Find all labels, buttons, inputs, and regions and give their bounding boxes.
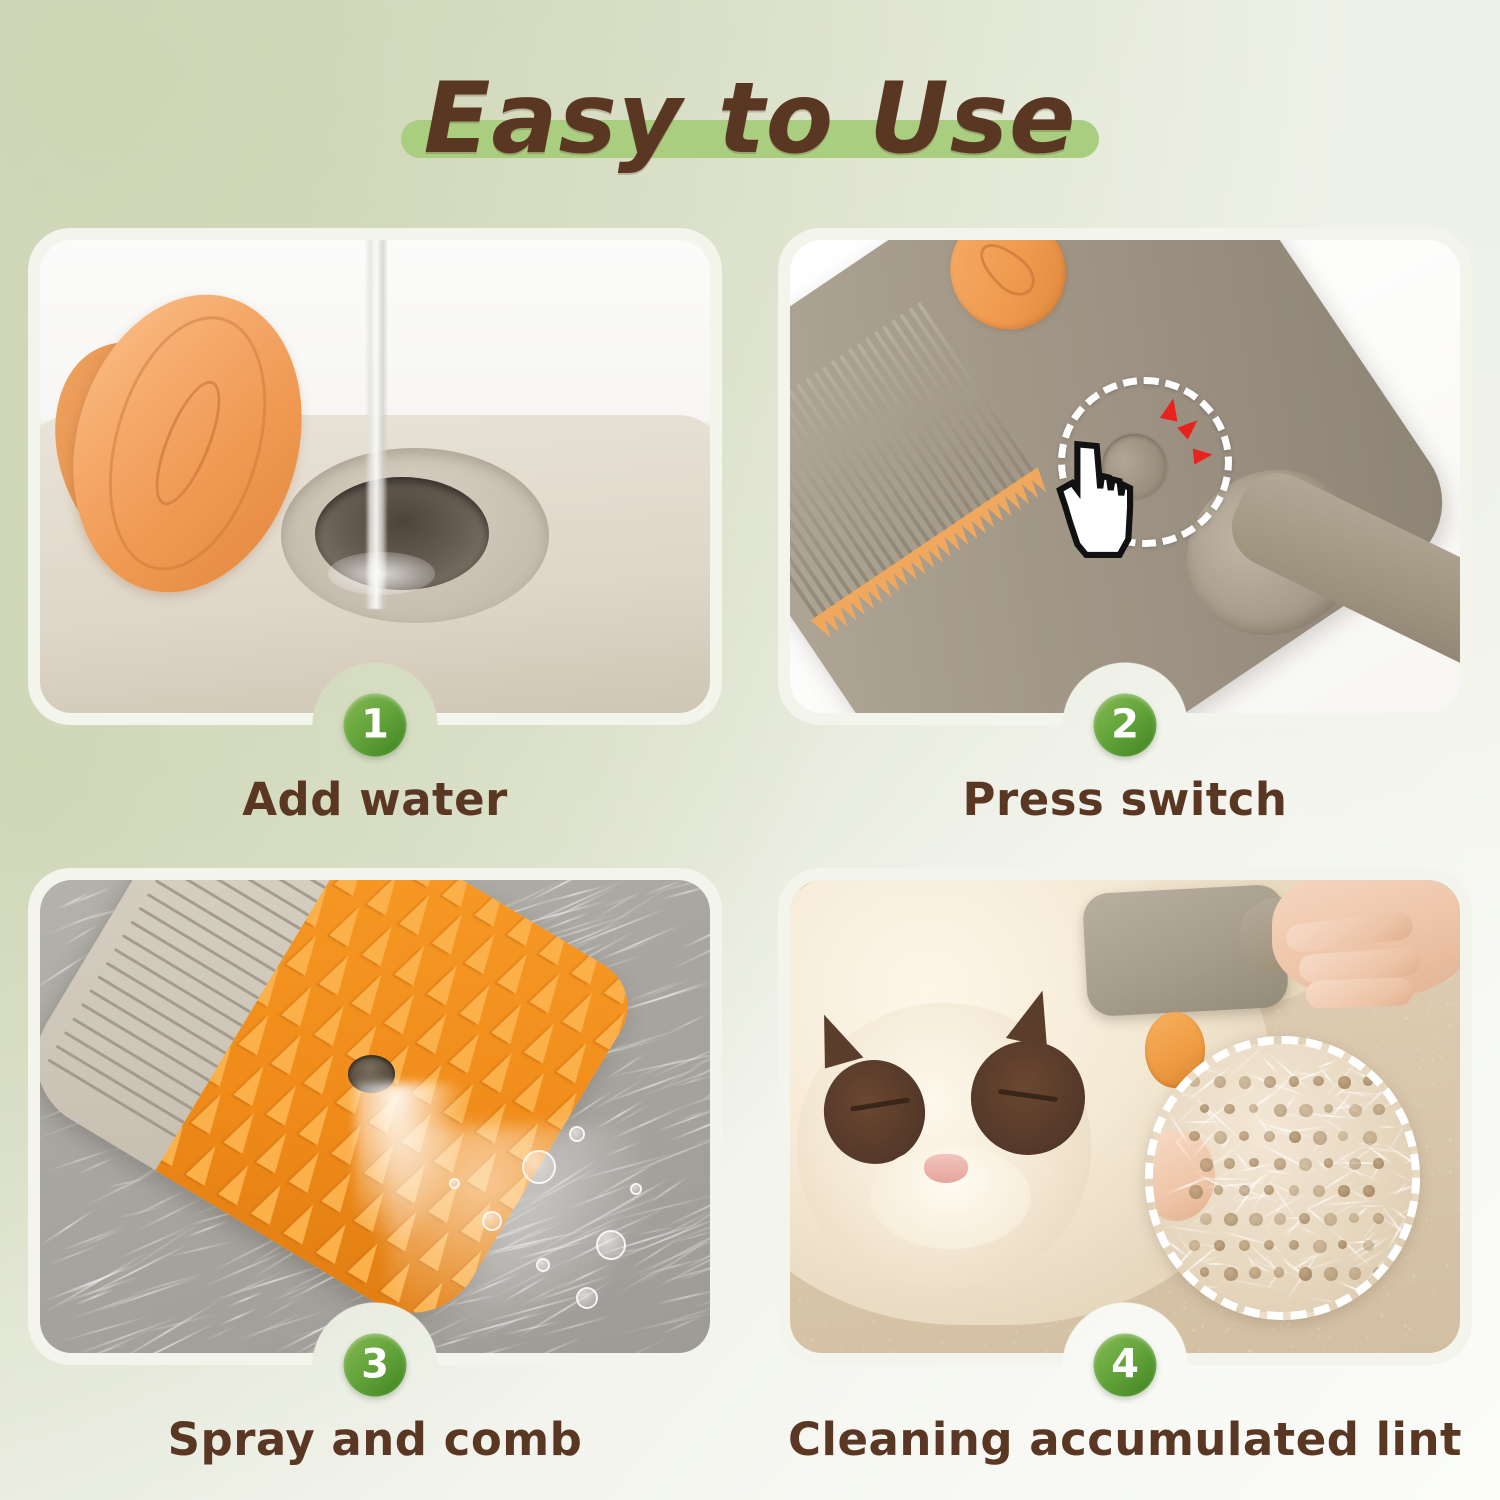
carpet-fleck [1013, 1341, 1016, 1344]
bristle-spike [514, 1066, 553, 1112]
carpet-fleck [1374, 1009, 1377, 1012]
bristle-hole [1289, 1185, 1300, 1196]
carpet-fleck [1151, 1334, 1154, 1337]
bristle-spike [524, 1018, 563, 1064]
carpet-fleck [806, 1297, 809, 1300]
carpet-fleck [1291, 1345, 1294, 1348]
carpet-fleck [984, 1344, 987, 1347]
soap-bubble [522, 1150, 556, 1184]
bristle-hole [1338, 1185, 1349, 1196]
bristle-hole [1239, 1076, 1251, 1088]
page-title: Easy to Use [409, 62, 1090, 178]
fur-strand [707, 1162, 710, 1183]
carpet-fleck [1416, 1316, 1419, 1319]
bristle-hole [1363, 1185, 1375, 1197]
bristle-hole [1313, 1076, 1323, 1086]
lint-strand [1164, 1091, 1206, 1098]
carpet-fleck [1366, 1337, 1369, 1340]
bristle-spike [224, 1108, 263, 1154]
soap-bubble [596, 1230, 626, 1260]
bristle-hole [1324, 1104, 1333, 1113]
fur-strand [675, 1108, 710, 1122]
bristle-spike [314, 1000, 353, 1046]
carpet-fleck [1170, 1302, 1173, 1305]
bristle-hole [1264, 1076, 1276, 1088]
carpet-fleck [811, 1338, 814, 1341]
bristle-hole [1249, 1267, 1261, 1279]
carpet-fleck [1456, 1071, 1459, 1074]
water-splash [328, 552, 435, 595]
bristle-spike [409, 880, 448, 887]
carpet-fleck [1355, 1047, 1358, 1050]
carpet-fleck [1381, 1039, 1384, 1042]
bristle-spike [464, 928, 503, 974]
step-2-image-frame [778, 228, 1472, 725]
lint-strand [1292, 1222, 1325, 1238]
carpet-fleck [1404, 1334, 1407, 1337]
carpet-fleck [1046, 1325, 1049, 1328]
carpet-fleck [1457, 1208, 1460, 1211]
carpet-fleck [1451, 1002, 1454, 1005]
bristle-spike [427, 960, 466, 1006]
bristle-spike [334, 880, 373, 896]
fur-strand [61, 885, 116, 909]
carpet-fleck [859, 1323, 862, 1326]
fur-strand [219, 1263, 330, 1299]
fur-strand [663, 912, 710, 973]
bristle-spike [361, 920, 400, 966]
carpet-fleck [1166, 1300, 1169, 1303]
bristle-spike [218, 1159, 257, 1205]
carpet-fleck [1427, 1007, 1430, 1010]
carpet-fleck [1420, 1103, 1423, 1106]
carpet-fleck [1272, 1328, 1275, 1331]
carpet-fleck [1355, 1348, 1358, 1351]
carpet-fleck [1382, 1075, 1385, 1078]
step-card-3: 3 Spray and comb [28, 868, 722, 1478]
carpet-fleck [1287, 1323, 1290, 1326]
bristle-hole [1363, 1076, 1373, 1086]
bristle-hole [1264, 1185, 1274, 1195]
lint-strand [1199, 1286, 1222, 1288]
carpet-fleck [1154, 1294, 1157, 1297]
step-1-number-badge: 1 [344, 694, 407, 757]
carpet-fleck [801, 1337, 804, 1340]
carpet-fleck [1276, 1010, 1279, 1013]
bristle-hole [1338, 1131, 1348, 1141]
carpet-fleck [1457, 1162, 1460, 1165]
carpet-fleck [1422, 1063, 1425, 1066]
bristle-hole [1214, 1240, 1224, 1250]
soap-bubble [449, 1178, 460, 1189]
carpet-fleck [1141, 1316, 1144, 1319]
bristle-spike [352, 969, 391, 1015]
carpet-fleck [1414, 1080, 1417, 1083]
fur-strand [113, 1225, 192, 1261]
step-3-image-frame [28, 868, 722, 1365]
bristle-spike [449, 1027, 488, 1073]
step-2-number-badge: 2 [1094, 694, 1157, 757]
carpet-fleck [1432, 1050, 1435, 1053]
carpet-fleck [1404, 1324, 1407, 1327]
carpet-fleck [1015, 1330, 1018, 1333]
carpet-fleck [1198, 1349, 1201, 1352]
bristle-hole [1239, 1240, 1250, 1251]
carpet-fleck [1322, 1345, 1325, 1348]
carpet-fleck [1201, 1325, 1204, 1328]
carpet-fleck [1437, 1278, 1440, 1281]
soap-bubble [630, 1183, 642, 1195]
step-2-caption: Press switch [778, 773, 1472, 826]
carpet-fleck [862, 1348, 865, 1351]
step-card-4: 4 Cleaning accumulated lint [778, 868, 1472, 1478]
bristle-spike [283, 1198, 322, 1244]
carpet-fleck [1160, 1338, 1163, 1341]
bristle-hole [1299, 1267, 1312, 1280]
carpet-fleck [1439, 1167, 1442, 1170]
bristle-spike [530, 967, 569, 1013]
carpet-fleck [1213, 1352, 1216, 1353]
carpet-fleck [1293, 1339, 1296, 1342]
carpet-fleck [1455, 1001, 1458, 1004]
carpet-fleck [1387, 1294, 1390, 1297]
bristle-spike [482, 1047, 521, 1093]
bristle-spike [271, 1029, 310, 1075]
carpet-fleck [1187, 1283, 1190, 1286]
carpet-fleck [1439, 1055, 1442, 1058]
carpet-fleck [1085, 1328, 1088, 1331]
carpet-fleck [1309, 1331, 1312, 1334]
bristle-hole [1189, 1076, 1199, 1086]
carpet-fleck [927, 1327, 930, 1330]
bristle-hole [1274, 1104, 1287, 1117]
bristle-hole [1363, 1240, 1374, 1251]
bristle-hole [1313, 1185, 1325, 1197]
carpet-fleck [1383, 1311, 1386, 1314]
carpet-fleck [1377, 1351, 1380, 1353]
carpet-fleck [1405, 1017, 1408, 1020]
carpet-fleck [1412, 1274, 1415, 1277]
bristle-spike [492, 999, 531, 1045]
comb-line [172, 880, 301, 930]
carpet-fleck [1153, 1301, 1156, 1304]
bristle-hole [1313, 1131, 1327, 1145]
bristle-hole [1249, 1158, 1258, 1167]
carpet-fleck [1449, 1024, 1452, 1027]
bristle-hole [1349, 1267, 1361, 1279]
carpet-fleck [1390, 1335, 1393, 1338]
carpet-fleck [792, 1339, 795, 1342]
carpet-fleck [1330, 1315, 1333, 1318]
bristle-hole [1349, 1158, 1361, 1170]
carpet-fleck [1168, 1291, 1171, 1294]
lint-strand [1203, 1262, 1228, 1265]
carpet-fleck [1449, 1170, 1452, 1173]
bristle-hole [1224, 1158, 1234, 1168]
carpet-fleck [1056, 1321, 1059, 1324]
carpet-fleck [1318, 1335, 1321, 1338]
carpet-fleck [1328, 1336, 1331, 1339]
bristle-spike [459, 979, 498, 1025]
carpet-fleck [1380, 1314, 1383, 1317]
carpet-fleck [888, 1338, 891, 1341]
carpet-fleck [1045, 1350, 1048, 1353]
bristle-hole [1289, 1240, 1299, 1250]
step-4-number: 4 [1111, 1344, 1139, 1384]
carpet-fleck [1454, 1196, 1457, 1199]
bristle-spike [256, 1128, 295, 1174]
step-1-photo-add-water [40, 240, 710, 713]
bristle-spike [186, 1139, 225, 1185]
carpet-fleck [1436, 1004, 1439, 1007]
bristle-hole [1249, 1104, 1258, 1113]
carpet-fleck [1432, 1022, 1435, 1025]
carpet-fleck [1410, 1251, 1413, 1254]
bristle-spike [251, 1179, 290, 1225]
carpet-fleck [1180, 1279, 1183, 1282]
bristle-hole [1373, 1158, 1384, 1169]
carpet-fleck [1242, 1315, 1245, 1318]
step-card-1: 1 Add water [28, 228, 722, 838]
carpet-fleck [1192, 1329, 1195, 1332]
step-4-caption: Cleaning accumulated lint [778, 1413, 1472, 1466]
fur-strand [261, 1295, 304, 1321]
page-title-block: Easy to Use [0, 62, 1500, 178]
carpet-fleck [1414, 1002, 1417, 1005]
carpet-fleck [854, 1322, 857, 1325]
fur-strand [702, 1144, 710, 1180]
fur-strand [133, 1189, 188, 1217]
carpet-fleck [1249, 1350, 1252, 1353]
carpet-fleck [1183, 1306, 1186, 1309]
carpet-fleck [1421, 1059, 1424, 1062]
click-spark-icon [1193, 446, 1214, 464]
carpet-fleck [1224, 1330, 1227, 1333]
hand-cursor-icon [1038, 439, 1152, 562]
bristle-hole [1338, 1076, 1351, 1089]
bristle-hole [1249, 1213, 1263, 1227]
carpet-fleck [1431, 1291, 1434, 1294]
bristle-hole [1214, 1131, 1227, 1144]
carpet-fleck [858, 1318, 861, 1321]
carpet-fleck [1426, 1163, 1429, 1166]
steam-jet [355, 1083, 462, 1244]
step-4-photo-cleaning-lint [790, 880, 1460, 1353]
step-card-2: 2 Press switch [778, 228, 1472, 838]
carpet-fleck [839, 1348, 842, 1351]
bristle-hole [1239, 1185, 1250, 1196]
carpet-fleck [791, 881, 794, 884]
carpet-fleck [941, 1342, 944, 1345]
carpet-fleck [1432, 1082, 1435, 1085]
bristle-hole [1289, 1076, 1300, 1087]
lint-strand [1376, 1125, 1398, 1128]
carpet-fleck [1408, 1279, 1411, 1282]
fur-strand [680, 917, 710, 951]
carpet-fleck [1457, 1140, 1460, 1143]
carpet-fleck [1157, 1350, 1160, 1353]
carpet-fleck [1446, 1003, 1449, 1006]
carpet-fleck [1425, 1145, 1428, 1148]
bristle-hole [1338, 1240, 1347, 1249]
bristle-spike [562, 987, 601, 1033]
bristle-hole [1324, 1267, 1338, 1281]
fur-strand [694, 1271, 710, 1309]
carpet-fleck [1280, 1322, 1283, 1325]
bristle-spike [266, 1079, 305, 1125]
bristle-spike [304, 1048, 343, 1094]
bristle-spike [298, 1099, 337, 1145]
carpet-fleck [1430, 1247, 1433, 1250]
carpet-fleck [1446, 1209, 1449, 1212]
lint-strand [1300, 1296, 1356, 1306]
carpet-fleck [1416, 1008, 1419, 1011]
bristle-hole [1373, 1267, 1383, 1277]
carpet-fleck [803, 1342, 806, 1345]
carpet-fleck [1454, 887, 1457, 890]
carpet-fleck [1172, 1324, 1175, 1327]
carpet-fleck [1390, 1032, 1393, 1035]
bristle-hole [1264, 1131, 1275, 1142]
step-3-caption: Spray and comb [28, 1413, 722, 1466]
carpet-fleck [1171, 1348, 1174, 1351]
carpet-fleck [1184, 1301, 1187, 1304]
lint-strand [1342, 1060, 1383, 1063]
fur-strand [60, 1316, 149, 1344]
carpet-fleck [1233, 1322, 1236, 1325]
bristle-spike [384, 988, 423, 1034]
cat-nose [924, 1154, 968, 1182]
carpet-fleck [1429, 1000, 1432, 1003]
carpet-fleck [1449, 1091, 1452, 1094]
bristle-hole [1224, 1104, 1235, 1115]
bristle-spike [316, 1218, 355, 1264]
carpet-fleck [1061, 1320, 1064, 1323]
bristle-hole [1214, 1076, 1226, 1088]
bristle-spike [497, 948, 536, 994]
carpet-fleck [1182, 1292, 1185, 1295]
carpet-fleck [1338, 1338, 1341, 1341]
bristle-spike [329, 901, 368, 947]
carpet-fleck [890, 1352, 893, 1353]
carpet-fleck [1432, 1034, 1435, 1037]
carpet-fleck [1317, 1327, 1320, 1330]
step-2-number: 2 [1111, 704, 1139, 744]
bristle-hole [1274, 1158, 1285, 1169]
carpet-fleck [824, 1321, 827, 1324]
finger [1305, 977, 1413, 1009]
bristle-hole [1224, 1213, 1238, 1227]
bristle-hole [1299, 1213, 1310, 1224]
carpet-fleck [1227, 1328, 1230, 1331]
carpet-fleck [872, 1320, 875, 1323]
carpet-fleck [1446, 1264, 1449, 1267]
bristle-spike [281, 980, 320, 1026]
carpet-fleck [1068, 1329, 1071, 1332]
bristle-spike [394, 940, 433, 986]
bristle-hole [1289, 1131, 1301, 1143]
carpet-fleck [798, 1298, 801, 1301]
bristle-hole [1299, 1104, 1313, 1118]
carpet-fleck [1274, 1029, 1277, 1032]
lint-strand [1391, 1170, 1415, 1183]
bristle-spike [557, 1038, 596, 1084]
carpet-fleck [1417, 1047, 1420, 1050]
fur-strand [218, 1308, 257, 1327]
bristle-hole [1324, 1213, 1337, 1226]
carpet-fleck [1456, 892, 1459, 895]
fur-strand [601, 940, 654, 959]
bristle-hole [1324, 1158, 1333, 1167]
bristle-hole [1189, 1131, 1199, 1141]
carpet-fleck [1425, 1219, 1428, 1222]
bristle-hole [1349, 1213, 1360, 1224]
carpet-fleck [1418, 1067, 1421, 1070]
fur-strand [57, 891, 91, 910]
carpet-fleck [1444, 1124, 1447, 1127]
bristle-hole [1200, 1158, 1213, 1171]
steps-grid: 1 Add water [28, 228, 1472, 1478]
step-2-photo-press-switch [790, 240, 1460, 713]
carpet-fleck [1408, 1327, 1411, 1330]
bristle-spike [399, 889, 438, 935]
carpet-fleck [1181, 1287, 1184, 1290]
bristle-hole [1274, 1267, 1284, 1277]
carpet-fleck [1432, 1058, 1435, 1061]
step-1-image-frame [28, 228, 722, 725]
carpet-fleck [1455, 1270, 1458, 1273]
bristle-hole [1349, 1104, 1362, 1117]
bristle-hole [1214, 1185, 1223, 1194]
infographic-page: Easy to Use 1 [0, 0, 1500, 1500]
carpet-fleck [1184, 1334, 1187, 1337]
bristle-spike [432, 909, 471, 955]
bristle-hole [1313, 1240, 1326, 1253]
carpet-fleck [1173, 1313, 1176, 1316]
step-3-number: 3 [361, 1344, 389, 1384]
bristle-hole [1200, 1267, 1210, 1277]
fur-strand [454, 1346, 512, 1353]
fur-strand [85, 1169, 159, 1207]
step-3-photo-spray-and-comb [40, 880, 710, 1353]
soap-bubble [576, 1287, 598, 1309]
carpet-fleck [1458, 1155, 1460, 1158]
step-4-number-badge: 4 [1094, 1334, 1157, 1397]
carpet-fleck [1148, 1331, 1151, 1334]
carpet-fleck [1431, 1173, 1434, 1176]
bristle-hole [1264, 1240, 1274, 1250]
carpet-fleck [1437, 1037, 1440, 1040]
bristle-hole [1274, 1213, 1286, 1225]
bristle-spike [367, 880, 406, 915]
bristle-hole [1189, 1240, 1199, 1250]
bristle-spike [289, 1147, 328, 1193]
carpet-fleck [1220, 1309, 1223, 1312]
bristle-hole [1373, 1104, 1384, 1115]
bristle-spike [319, 949, 358, 995]
carpet-fleck [856, 1307, 859, 1310]
bristle-hole [1200, 1213, 1213, 1226]
bristle-hole [1363, 1131, 1377, 1145]
bristle-hole [1239, 1131, 1249, 1141]
carpet-fleck [1422, 1352, 1425, 1353]
step-1-caption: Add water [28, 773, 722, 826]
lint-closeup-inset [1145, 1036, 1420, 1320]
step-3-number-badge: 3 [344, 1334, 407, 1397]
carpet-fleck [1325, 1012, 1328, 1015]
bristle-spike [233, 1060, 272, 1106]
carpet-fleck [1430, 1160, 1433, 1163]
